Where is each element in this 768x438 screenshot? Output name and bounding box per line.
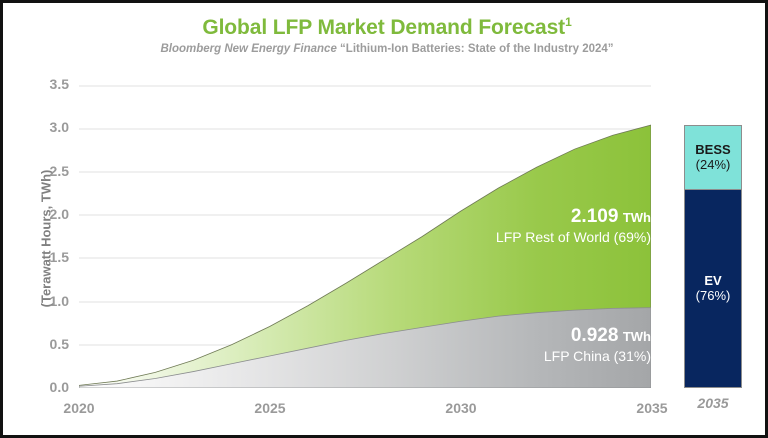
y-tick-label: 2.5 (29, 163, 69, 179)
annotation-unit: TWh (623, 329, 651, 344)
bar-segment-bess: BESS (24%) (685, 126, 741, 189)
bar-segment-ev-percent: (76%) (696, 288, 731, 304)
chart-subtitle-report: “Lithium-Ion Batteries: State of the Ind… (340, 43, 613, 55)
annotation-lfp-china: 0.928 TWh LFP China (31%) (401, 325, 651, 364)
stacked-bar-year-label: 2035 (669, 395, 757, 411)
chart-subtitle: Bloomberg New Energy Finance “Lithium-Io… (3, 43, 768, 55)
y-tick-label: 3.5 (29, 76, 69, 92)
x-tick-label: 2020 (44, 400, 114, 416)
y-tick-label: 0.5 (29, 336, 69, 352)
chart-title: Global LFP Market Demand Forecast1 (3, 15, 768, 40)
annotation-label: LFP China (31%) (401, 348, 651, 364)
chart-title-footnote-marker: 1 (565, 15, 572, 29)
chart-subtitle-source: Bloomberg New Energy Finance (160, 43, 336, 55)
y-tick-label: 3.0 (29, 119, 69, 135)
y-tick-label: 1.5 (29, 249, 69, 265)
stacked-bar-2035: BESS (24%) EV (76%) (684, 125, 742, 388)
annotation-label: LFP Rest of World (69%) (401, 229, 651, 245)
y-tick-label: 0.0 (29, 379, 69, 395)
chart-title-text: Global LFP Market Demand Forecast (202, 16, 565, 39)
bar-segment-bess-percent: (24%) (696, 157, 731, 173)
bar-segment-bess-name: BESS (695, 142, 730, 158)
annotation-value: 0.928 (571, 325, 619, 346)
chart-figure: Global LFP Market Demand Forecast1 Bloom… (0, 0, 768, 438)
annotation-value: 2.109 (571, 206, 619, 227)
y-tick-label: 1.0 (29, 293, 69, 309)
bar-segment-ev: EV (76%) (685, 189, 741, 387)
annotation-unit: TWh (623, 210, 651, 225)
annotation-lfp-rest-of-world: 2.109 TWh LFP Rest of World (69%) (401, 206, 651, 245)
bar-segment-ev-name: EV (704, 273, 721, 289)
x-tick-label: 2030 (426, 400, 496, 416)
y-tick-label: 2.0 (29, 206, 69, 222)
x-tick-label: 2025 (235, 400, 305, 416)
